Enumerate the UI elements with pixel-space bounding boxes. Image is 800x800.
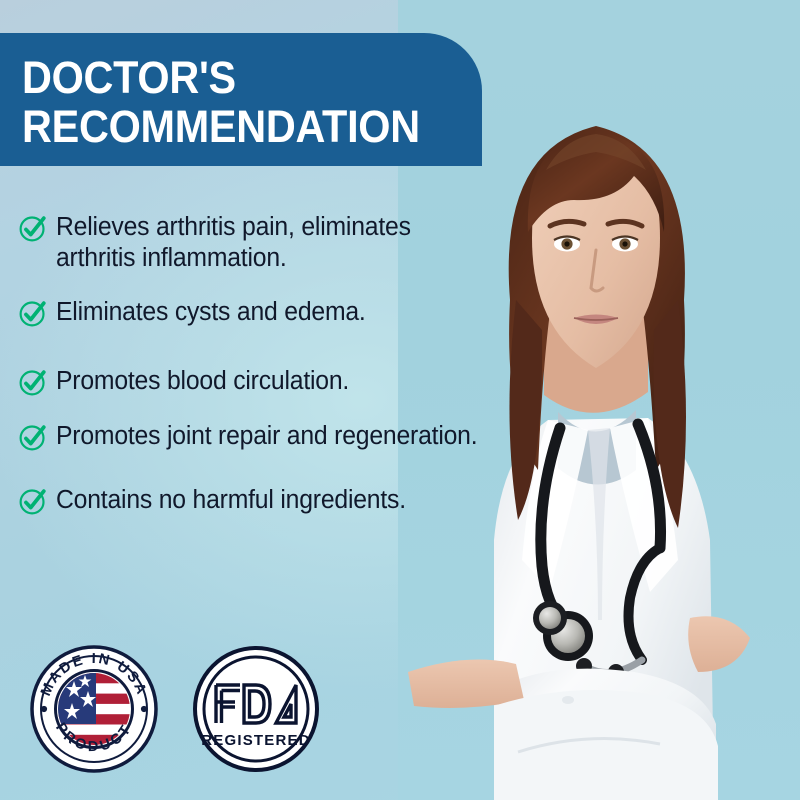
headline-banner: DOCTOR'S RECOMMENDATION <box>0 33 482 166</box>
list-item: Relieves arthritis pain, eliminates arth… <box>18 212 508 275</box>
fda-sub-text: REGISTERED <box>201 732 311 749</box>
certification-badges: MADE IN USA PRODUCT REGISTERED <box>28 643 320 775</box>
headline-line-1: DOCTOR'S <box>22 54 445 103</box>
list-item-label: Promotes blood circulation. <box>56 366 349 397</box>
check-circle-icon <box>18 486 48 516</box>
list-item-label: Relieves arthritis pain, eliminates arth… <box>56 212 494 275</box>
check-circle-icon <box>18 422 48 452</box>
made-in-usa-badge: MADE IN USA PRODUCT <box>28 643 160 775</box>
check-circle-icon <box>18 213 48 243</box>
list-item-label: Promotes joint repair and regeneration. <box>56 421 477 452</box>
list-item: Promotes joint repair and regeneration. <box>18 421 508 452</box>
list-item: Contains no harmful ingredients. <box>18 485 508 516</box>
fda-registered-badge: REGISTERED <box>192 645 320 773</box>
benefits-list: Relieves arthritis pain, eliminates arth… <box>18 212 508 534</box>
promo-banner-canvas: DOCTOR'S RECOMMENDATION Relieves arthrit… <box>0 0 800 800</box>
list-item: Eliminates cysts and edema. <box>18 297 508 328</box>
check-circle-icon <box>18 298 48 328</box>
list-item-label: Contains no harmful ingredients. <box>56 485 406 516</box>
check-circle-icon <box>18 367 48 397</box>
list-item: Promotes blood circulation. <box>18 366 508 397</box>
headline-line-2: RECOMMENDATION <box>22 103 445 152</box>
list-item-label: Eliminates cysts and edema. <box>56 297 366 328</box>
